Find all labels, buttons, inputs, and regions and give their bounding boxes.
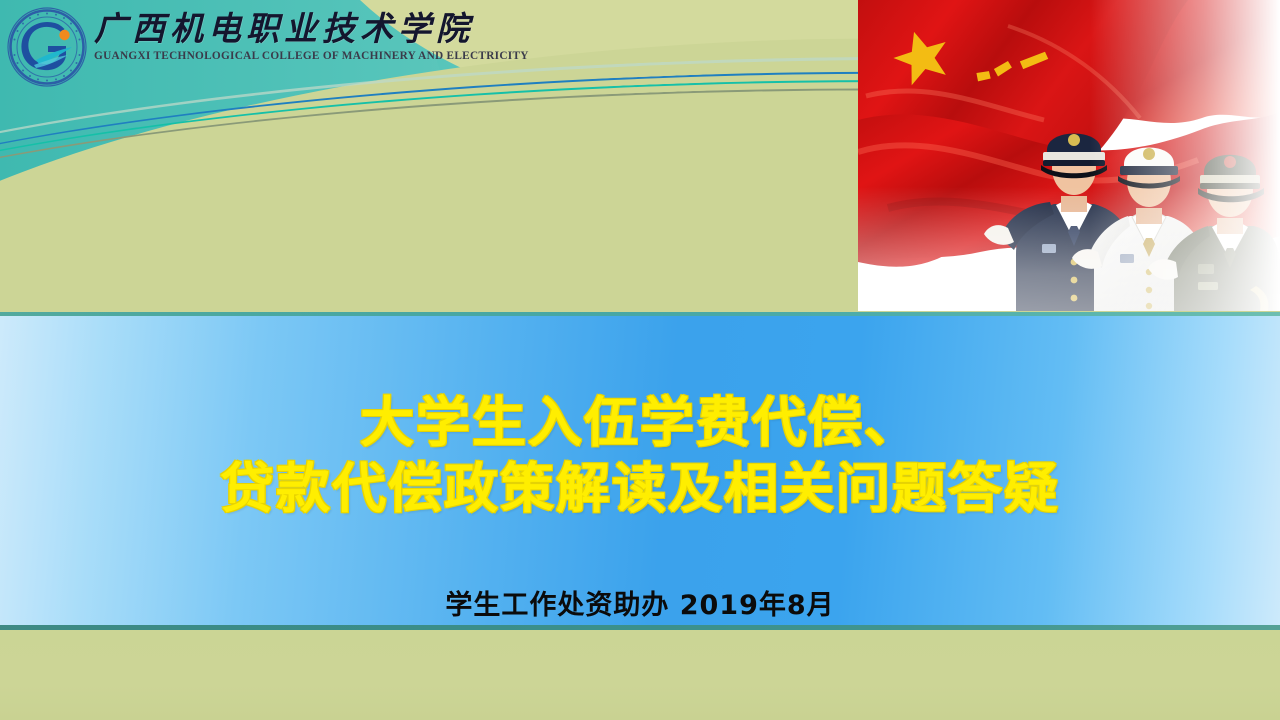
school-name-english: GUANGXI TECHNOLOGICAL COLLEGE OF MACHINE… — [94, 50, 529, 62]
school-branding: 广西机电职业技术学院 GUANGXI TECHNOLOGICAL COLLEGE… — [6, 6, 529, 88]
footer-decoration — [0, 630, 1280, 720]
flag-soldiers-photo — [858, 0, 1280, 311]
school-name-block: 广西机电职业技术学院 GUANGXI TECHNOLOGICAL COLLEGE… — [94, 6, 529, 62]
slide-title: 大学生入伍学费代偿、 贷款代偿政策解读及相关问题答疑 — [0, 390, 1280, 522]
slide-title-line-1: 大学生入伍学费代偿、 — [0, 390, 1280, 456]
school-name-chinese: 广西机电职业技术学院 — [94, 12, 529, 47]
slide-subtitle: 学生工作处资助办 2019年8月 — [0, 583, 1280, 622]
school-crest-icon — [6, 6, 88, 88]
slide-title-line-2: 贷款代偿政策解读及相关问题答疑 — [0, 456, 1280, 522]
title-banner: 大学生入伍学费代偿、 贷款代偿政策解读及相关问题答疑 学生工作处资助办 2019… — [0, 312, 1280, 630]
presentation-slide: 广西机电职业技术学院 GUANGXI TECHNOLOGICAL COLLEGE… — [0, 0, 1280, 720]
